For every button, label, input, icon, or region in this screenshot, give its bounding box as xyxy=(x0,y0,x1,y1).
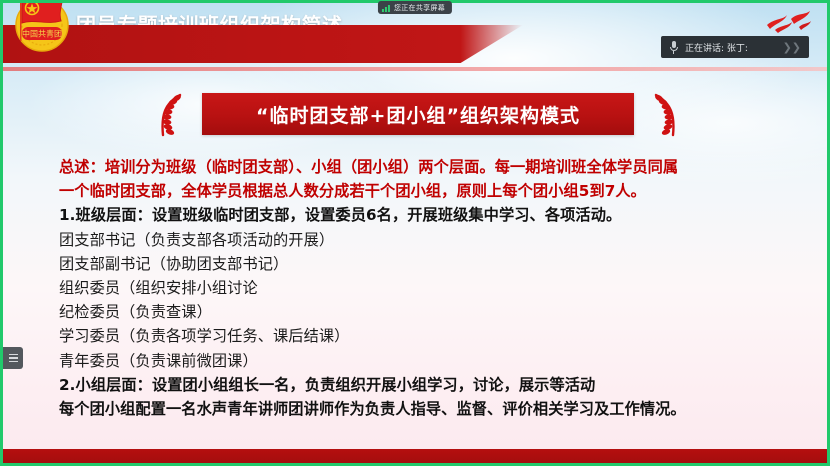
body-line: 青年委员（负责课前微团课） xyxy=(59,349,797,373)
screen-share-frame: 中国共青团 团员专题培训班组织架构简述 “临时团支部+团小组” xyxy=(0,0,830,466)
body-line: 学习委员（负责各项学习任务、课后结课） xyxy=(59,324,797,348)
title-text: “临时团支部+团小组”组织架构模式 xyxy=(256,101,580,128)
slide-body: 总述：培训分为班级（临时团支部）、小组（团小组）两个层面。每一期培训班全体学员同… xyxy=(59,155,797,421)
signal-bars-icon xyxy=(382,4,390,12)
red-doves-icon xyxy=(761,9,813,39)
body-line: 总述：培训分为班级（临时团支部）、小组（团小组）两个层面。每一期培训班全体学员同… xyxy=(59,155,797,179)
body-line: 组织委员（组织安排小组讨论 xyxy=(59,276,797,300)
screen-share-status-pill[interactable]: 您正在共享屏幕 xyxy=(378,1,452,14)
title-banner: “临时团支部+团小组”组织架构模式 xyxy=(153,91,683,137)
body-line: 每个团小组配置一名水声青年讲师团讲师作为负责人指导、监督、评价相关学习及工作情况… xyxy=(59,397,797,421)
slide-bottom-bar xyxy=(3,449,827,463)
body-line: 一个临时团支部，全体学员根据总人数分成若干个团小组，原则上每个团小组5到7人。 xyxy=(59,179,797,203)
laurel-bracket-left-icon xyxy=(149,93,191,137)
speaking-indicator[interactable]: 正在讲话: 张丁: ❯❯ xyxy=(661,36,809,58)
body-line: 团支部书记（负责支部各项活动的开展） xyxy=(59,228,797,252)
body-line: 纪检委员（负责查课） xyxy=(59,300,797,324)
microphone-icon xyxy=(669,41,678,54)
body-line: 2.小组层面：设置团小组组长一名，负责组织开展小组学习，讨论，展示等活动 xyxy=(59,373,797,397)
speaking-label: 正在讲话: 张丁: xyxy=(685,41,748,54)
body-line: 团支部副书记（协助团支部书记） xyxy=(59,252,797,276)
body-line: 1.班级层面：设置班级临时团支部，设置委员6名，开展班级集中学习、各项活动。 xyxy=(59,203,797,227)
communist-youth-league-emblem: 中国共青团 xyxy=(9,0,75,55)
header-band-shape xyxy=(3,25,523,63)
slide-header-band xyxy=(3,25,523,63)
list-lines-icon[interactable] xyxy=(3,347,23,369)
svg-text:中国共青团: 中国共青团 xyxy=(22,29,62,39)
screen-share-status-text: 您正在共享屏幕 xyxy=(394,3,445,13)
chevron-right-icon[interactable]: ❯❯ xyxy=(783,42,801,53)
laurel-bracket-right-icon xyxy=(645,93,687,137)
header-divider-rule xyxy=(3,67,827,71)
list-lines-glyph xyxy=(9,354,18,363)
title-plate: “临时团支部+团小组”组织架构模式 xyxy=(202,93,634,135)
